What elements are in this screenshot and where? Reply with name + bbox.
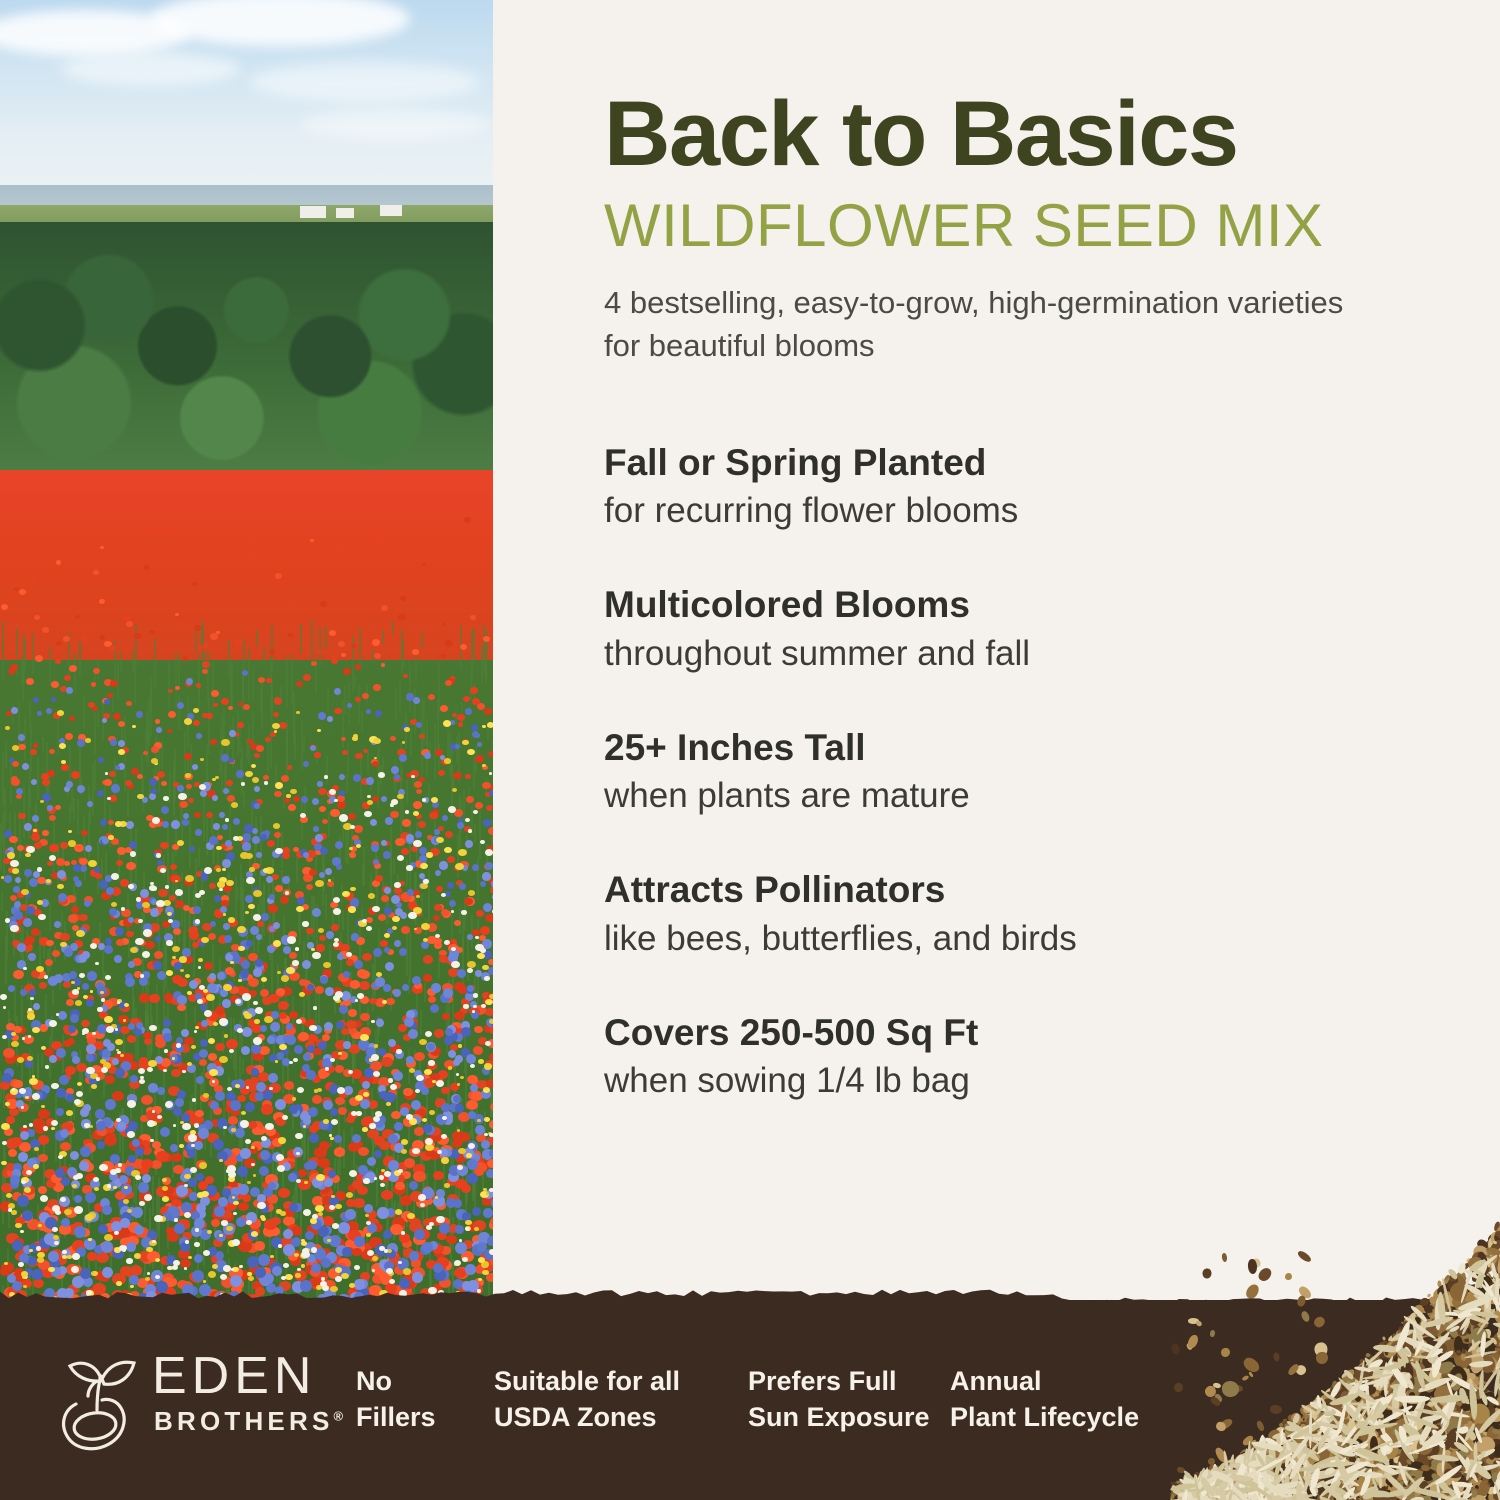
- feature-heading: Fall or Spring Planted: [604, 442, 1444, 485]
- feature-heading: 25+ Inches Tall: [604, 727, 1444, 770]
- footer-badge-lifecycle: Annual Plant Lifecycle: [950, 1364, 1139, 1436]
- feature-item: Fall or Spring Planted for recurring flo…: [604, 442, 1444, 533]
- feature-sub: for recurring flower blooms: [604, 490, 1444, 532]
- wildflower-meadow-photo: [0, 0, 493, 1336]
- cloud: [60, 52, 240, 86]
- feature-heading: Attracts Pollinators: [604, 869, 1444, 912]
- badge-line-1: No: [356, 1364, 436, 1400]
- sprout-seed-icon: [48, 1348, 146, 1452]
- badge-line-2: Plant Lifecycle: [950, 1400, 1139, 1436]
- lede-text: 4 bestselling, easy-to-grow, high-germin…: [604, 282, 1364, 368]
- feature-item: Attracts Pollinators like bees, butterfl…: [604, 869, 1444, 960]
- brand-name-secondary: BROTHERS®: [154, 1408, 343, 1434]
- feature-heading: Covers 250-500 Sq Ft: [604, 1012, 1444, 1055]
- footer-badge-usda-zones: Suitable for all USDA Zones: [494, 1364, 680, 1436]
- cloud: [250, 62, 480, 102]
- feature-item: 25+ Inches Tall when plants are mature: [604, 727, 1444, 818]
- page-subtitle: WILDFLOWER SEED MIX: [604, 196, 1444, 256]
- badge-line-2: Sun Exposure: [748, 1400, 930, 1436]
- seed-mix-pile-photo: [1170, 1212, 1500, 1500]
- badge-line-1: Annual: [950, 1364, 1139, 1400]
- brand-secondary-text: BROTHERS: [154, 1406, 334, 1436]
- badge-line-2: USDA Zones: [494, 1400, 680, 1436]
- treeline: [0, 222, 493, 480]
- feature-sub: like bees, butterflies, and birds: [604, 918, 1444, 960]
- badge-line-1: Prefers Full: [748, 1364, 930, 1400]
- brand-name-primary: EDEN: [152, 1350, 316, 1402]
- feature-item: Covers 250-500 Sq Ft when sowing 1/4 lb …: [604, 1012, 1444, 1103]
- badge-line-2: Fillers: [356, 1400, 436, 1436]
- feature-sub: when sowing 1/4 lb bag: [604, 1060, 1444, 1102]
- feature-heading: Multicolored Blooms: [604, 584, 1444, 627]
- poppy-band: [0, 470, 493, 660]
- cloud: [300, 110, 490, 140]
- footer-badge-sun-exposure: Prefers Full Sun Exposure: [748, 1364, 930, 1436]
- feature-sub: throughout summer and fall: [604, 633, 1444, 675]
- product-copy: Back to Basics WILDFLOWER SEED MIX 4 bes…: [604, 0, 1444, 1102]
- flower-meadow: [0, 470, 493, 1336]
- brand-logo: EDEN BROTHERS®: [48, 1344, 298, 1456]
- footer-badge-no-fillers: No Fillers: [356, 1364, 436, 1436]
- badge-line-1: Suitable for all: [494, 1364, 680, 1400]
- farm-building: [380, 205, 402, 216]
- farm-building: [300, 206, 326, 218]
- product-infographic: Back to Basics WILDFLOWER SEED MIX 4 bes…: [0, 0, 1500, 1500]
- feature-item: Multicolored Blooms throughout summer an…: [604, 584, 1444, 675]
- registered-mark: ®: [334, 1408, 344, 1423]
- page-title: Back to Basics: [604, 88, 1444, 180]
- feature-sub: when plants are mature: [604, 775, 1444, 817]
- farm-building: [336, 208, 354, 218]
